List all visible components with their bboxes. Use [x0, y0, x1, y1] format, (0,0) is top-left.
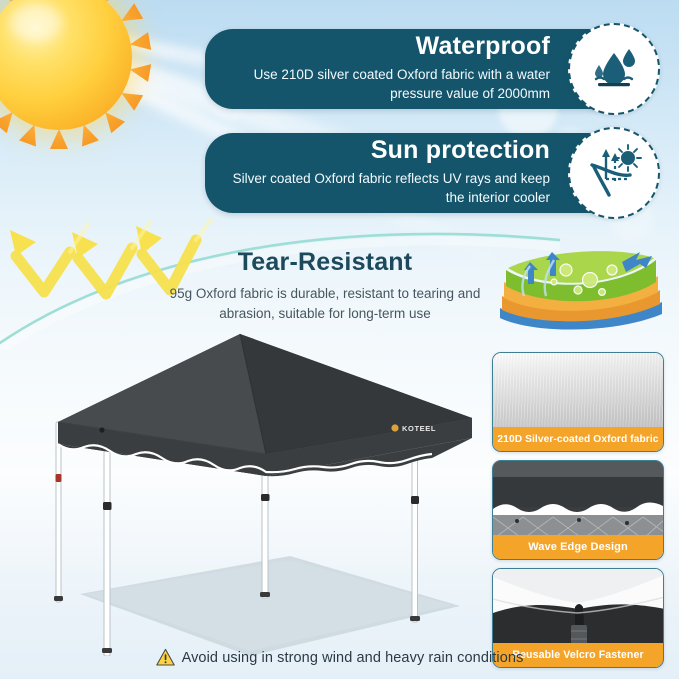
sun-icon [0, 0, 164, 162]
feature-title: Tear-Resistant [150, 248, 500, 277]
card-caption: 210D Silver-coated Oxford fabric [493, 427, 663, 451]
banner-title: Sun protection [371, 137, 550, 165]
sun-reflect-icon [568, 127, 660, 219]
feature-tear-resistant: Tear-Resistant 95g Oxford fabric is dura… [150, 248, 500, 323]
detail-card-fabric[interactable]: 210D Silver-coated Oxford fabric [492, 352, 664, 452]
banner-title: Waterproof [416, 33, 550, 61]
warning-text: Avoid using in strong wind and heavy rai… [182, 650, 524, 666]
warning-triangle-icon [156, 648, 175, 667]
banner-description: Silver coated Oxford fabric reflects UV … [229, 169, 550, 207]
svg-text:KOTEEL: KOTEEL [402, 424, 436, 433]
infographic-canvas: Waterproof Use 210D silver coated Oxford… [0, 0, 679, 679]
detail-card-wave-edge[interactable]: Wave Edge Design [492, 460, 664, 560]
canopy-tent-illustration: KOTEEL [40, 326, 490, 656]
feature-banner-waterproof: Waterproof Use 210D silver coated Oxford… [205, 29, 620, 109]
fabric-layers-icon [494, 234, 669, 339]
feature-banner-sun-protection: Sun protection Silver coated Oxford fabr… [205, 133, 620, 213]
banner-description: Use 210D silver coated Oxford fabric wit… [229, 65, 550, 103]
water-drop-icon [568, 23, 660, 115]
warning-note: Avoid using in strong wind and heavy rai… [0, 648, 679, 667]
card-caption: Wave Edge Design [493, 535, 663, 559]
feature-description: 95g Oxford fabric is durable, resistant … [150, 284, 500, 323]
